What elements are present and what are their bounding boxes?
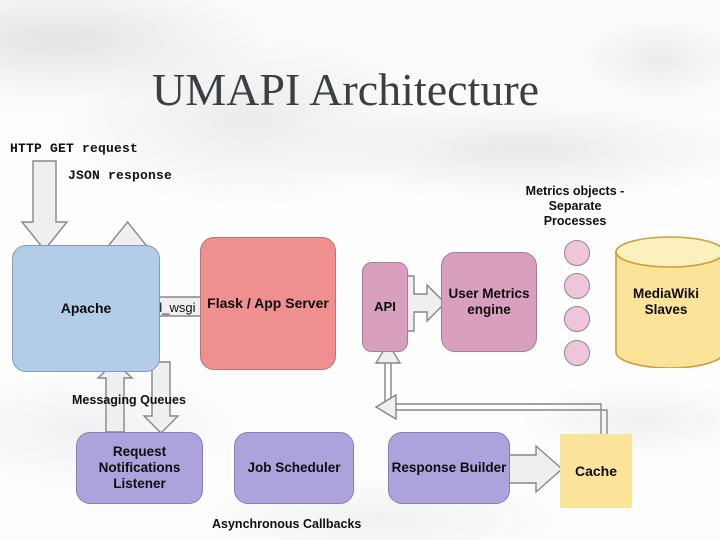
node-cache-label: Cache — [575, 463, 617, 480]
node-user-metrics-engine[interactable]: User Metrics engine — [441, 252, 537, 352]
node-request-notifications-listener[interactable]: Request Notifications Listener — [76, 432, 203, 504]
arrow-http-get — [22, 161, 67, 250]
node-user-metrics-label: User Metrics engine — [442, 286, 536, 318]
arrow-response-to-cache — [508, 446, 562, 492]
node-flask-label: Flask / App Server — [207, 295, 329, 312]
node-cache[interactable]: Cache — [560, 434, 632, 508]
node-response-builder[interactable]: Response Builder — [388, 432, 510, 504]
node-mediawiki-label: MediaWiki Slaves — [614, 286, 718, 318]
metrics-object-circle-4[interactable] — [564, 340, 590, 366]
arrowhead-left-midpath — [376, 395, 396, 419]
node-job-scheduler[interactable]: Job Scheduler — [234, 432, 354, 504]
umapi-architecture-slide: .blk { fill: #efefef; stroke: #878787; s… — [0, 0, 720, 540]
node-mediawiki-slaves[interactable]: MediaWiki Slaves — [614, 236, 720, 368]
node-apache-label: Apache — [61, 300, 112, 317]
label-asynchronous-callbacks: Asynchronous Callbacks — [212, 517, 392, 532]
page-title: UMAPI Architecture — [152, 63, 539, 116]
node-request-notifications-label: Request Notifications Listener — [77, 444, 202, 492]
label-metrics-objects: Metrics objects - Separate Processes — [508, 184, 642, 228]
node-job-scheduler-label: Job Scheduler — [247, 460, 340, 476]
node-response-builder-label: Response Builder — [392, 460, 507, 476]
node-api-label: API — [374, 299, 396, 314]
metrics-object-circle-2[interactable] — [564, 273, 590, 299]
node-api[interactable]: API — [362, 262, 408, 352]
node-mediawiki-label-wrap: MediaWiki Slaves — [614, 236, 718, 368]
metrics-object-circle-3[interactable] — [564, 306, 590, 332]
label-http-get-request: HTTP GET request — [10, 141, 138, 156]
metrics-object-circle-1[interactable] — [564, 240, 590, 266]
label-messaging-queues: Messaging Queues — [72, 393, 232, 408]
label-json-response: JSON response — [68, 168, 172, 183]
node-flask-app-server[interactable]: Flask / App Server — [200, 237, 336, 370]
arrow-api-to-metrics — [404, 276, 445, 331]
node-apache[interactable]: Apache — [12, 245, 160, 372]
